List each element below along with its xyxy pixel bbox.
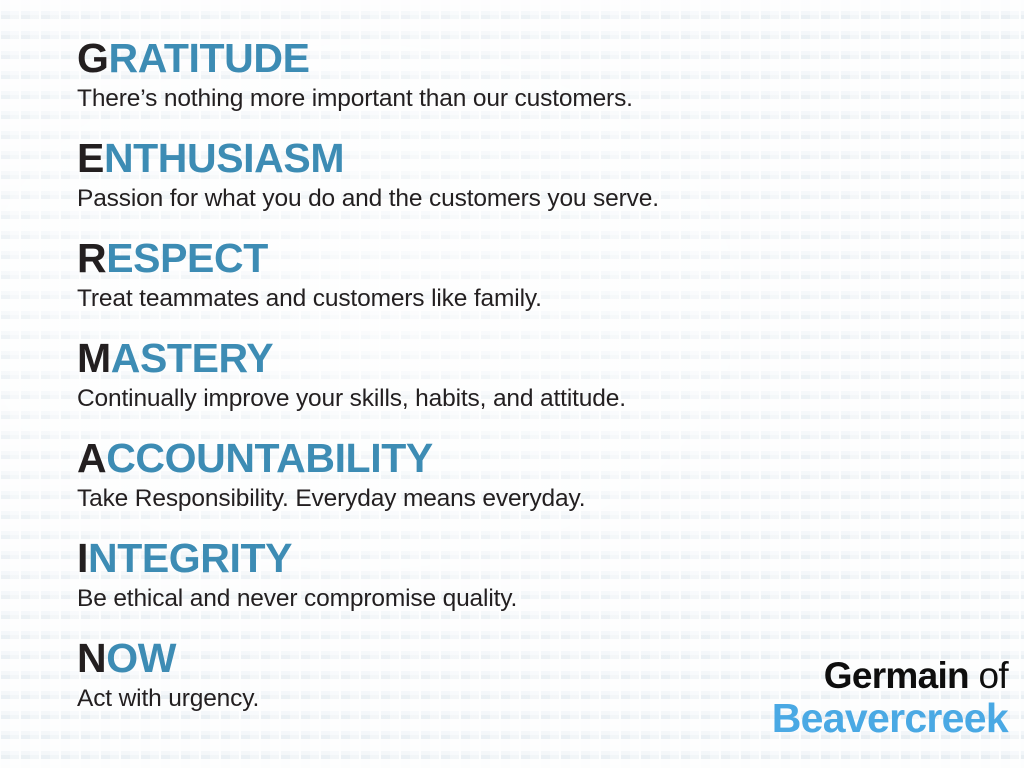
value-initial-letter: R (77, 235, 106, 281)
value-block-accountability: ACCOUNTABILITY Take Responsibility. Ever… (77, 436, 1004, 536)
value-heading-gratitude: GRATITUDE (77, 36, 1004, 80)
value-initial-letter: G (77, 35, 109, 81)
value-heading-rest: ASTERY (111, 335, 273, 381)
value-heading-accountability: ACCOUNTABILITY (77, 436, 1004, 480)
logo-brand-name: Germain (824, 655, 969, 696)
value-block-respect: RESPECT Treat teammates and customers li… (77, 236, 1004, 336)
value-heading-rest: NTEGRITY (88, 535, 292, 581)
value-initial-letter: M (77, 335, 111, 381)
value-heading-integrity: INTEGRITY (77, 536, 1004, 580)
value-description-accountability: Take Responsibility. Everyday means ever… (77, 484, 1004, 514)
value-heading-rest: ESPECT (106, 235, 268, 281)
logo-primary-line: Germain of (772, 656, 1008, 696)
value-description-gratitude: There’s nothing more important than our … (77, 84, 1004, 114)
value-heading-respect: RESPECT (77, 236, 1004, 280)
logo-connector-word: of (969, 655, 1008, 696)
value-block-mastery: MASTERY Continually improve your skills,… (77, 336, 1004, 436)
dealership-logo: Germain of Beavercreek (772, 656, 1008, 740)
value-description-mastery: Continually improve your skills, habits,… (77, 384, 1004, 414)
value-initial-letter: A (77, 435, 106, 481)
value-block-gratitude: GRATITUDE There’s nothing more important… (77, 36, 1004, 136)
value-block-integrity: INTEGRITY Be ethical and never compromis… (77, 536, 1004, 636)
value-heading-rest: CCOUNTABILITY (106, 435, 433, 481)
value-initial-letter: N (77, 635, 106, 681)
value-block-enthusiasm: ENTHUSIASM Passion for what you do and t… (77, 136, 1004, 236)
value-initial-letter: I (77, 535, 88, 581)
values-poster: GRATITUDE There’s nothing more important… (0, 0, 1024, 768)
value-initial-letter: E (77, 135, 104, 181)
value-description-integrity: Be ethical and never compromise quality. (77, 584, 1004, 614)
value-description-enthusiasm: Passion for what you do and the customer… (77, 184, 1004, 214)
logo-location-name: Beavercreek (772, 696, 1008, 740)
value-heading-enthusiasm: ENTHUSIASM (77, 136, 1004, 180)
value-heading-rest: OW (106, 635, 176, 681)
value-description-respect: Treat teammates and customers like famil… (77, 284, 1004, 314)
value-heading-rest: RATITUDE (109, 35, 310, 81)
core-values-list: GRATITUDE There’s nothing more important… (77, 36, 1004, 736)
value-heading-mastery: MASTERY (77, 336, 1004, 380)
value-heading-rest: NTHUSIASM (104, 135, 344, 181)
